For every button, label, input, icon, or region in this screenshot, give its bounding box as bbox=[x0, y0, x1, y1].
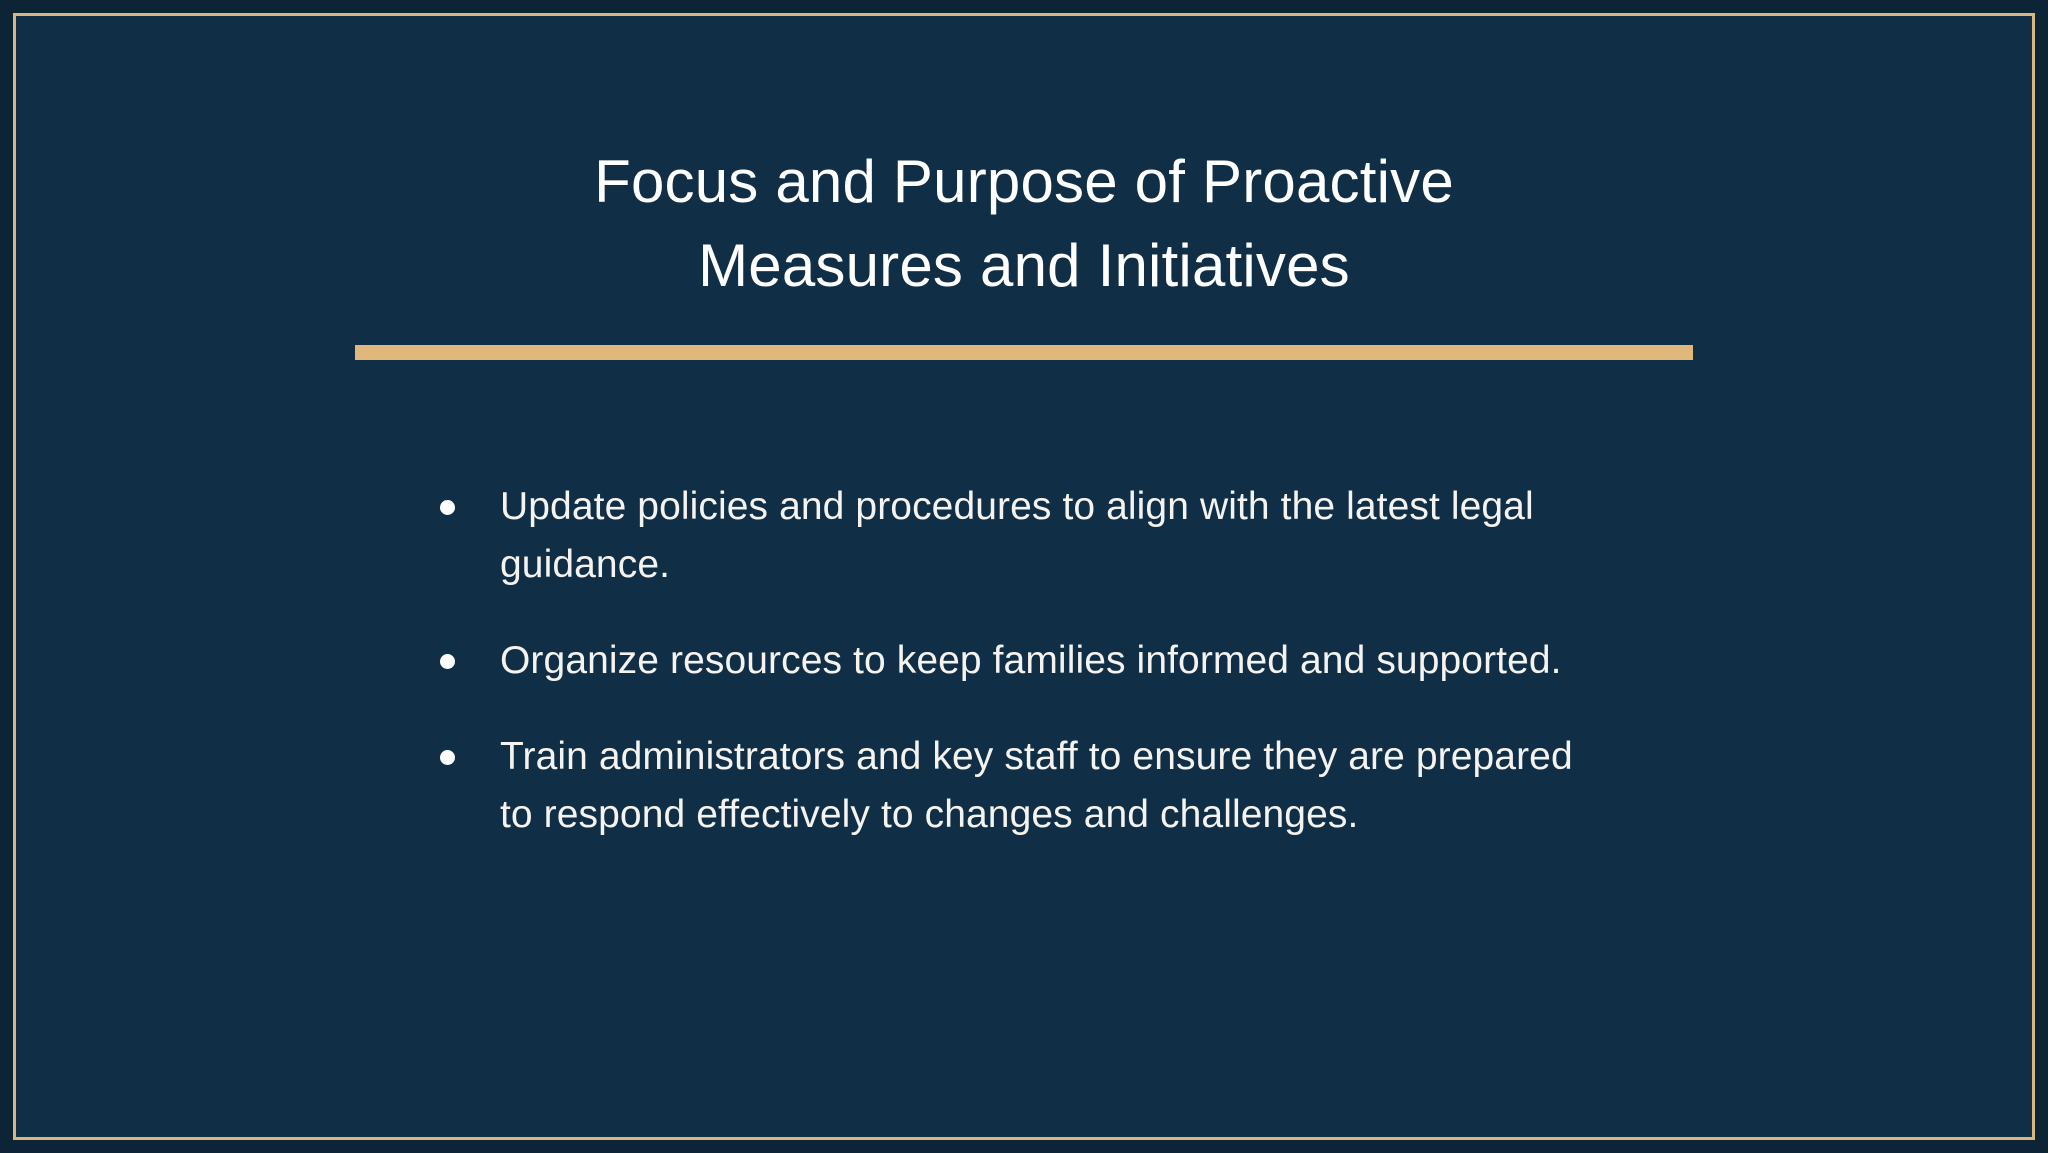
bullet-dot-icon bbox=[440, 750, 455, 765]
list-item: Organize resources to keep families info… bbox=[432, 632, 1632, 690]
list-item: Update policies and procedures to align … bbox=[432, 478, 1632, 594]
bullet-dot-icon bbox=[440, 654, 455, 669]
list-item-text: Train administrators and key staff to en… bbox=[500, 728, 1590, 844]
slide-title-block: Focus and Purpose of Proactive Measures … bbox=[355, 140, 1693, 308]
slide-title: Focus and Purpose of Proactive Measures … bbox=[355, 140, 1693, 308]
list-item: Train administrators and key staff to en… bbox=[432, 728, 1632, 844]
list-item-text: Update policies and procedures to align … bbox=[500, 478, 1590, 594]
list-item-text: Organize resources to keep families info… bbox=[500, 632, 1590, 690]
bullet-list: Update policies and procedures to align … bbox=[432, 478, 1632, 844]
presentation-slide: Focus and Purpose of Proactive Measures … bbox=[0, 0, 2048, 1153]
title-accent-bar bbox=[355, 345, 1693, 360]
slide-content: Focus and Purpose of Proactive Measures … bbox=[0, 0, 2048, 1153]
bullet-dot-icon bbox=[440, 500, 455, 515]
